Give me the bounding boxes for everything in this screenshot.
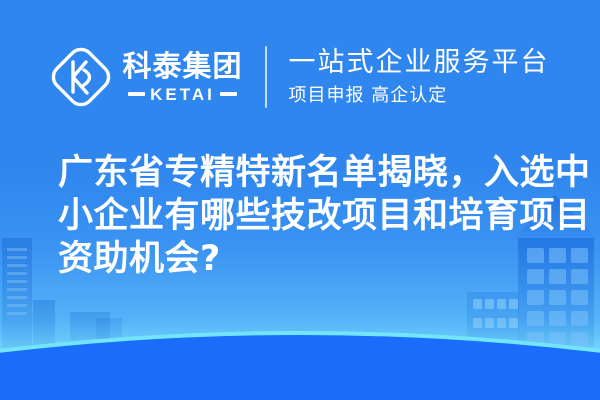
banner-header: 科泰集团 KETAI 一站式企业服务平台 项目申报 高企认定 [0, 36, 600, 118]
logo-dash-right-icon [220, 92, 237, 96]
tagline-block: 一站式企业服务平台 项目申报 高企认定 [289, 48, 550, 105]
page-title: 广东省专精特新名单揭晓，入选中 小企业有哪些技改项目和培育项目 资助机会? [58, 152, 558, 281]
ketai-monogram-logo-icon [50, 46, 112, 108]
logo-english-row: KETAI [128, 86, 237, 103]
logo-chinese-name: 科泰集团 [122, 52, 242, 81]
logo-dash-left-icon [128, 92, 145, 96]
tagline-sub: 项目申报 高企认定 [289, 86, 550, 106]
brand-logo[interactable]: 科泰集团 KETAI [50, 46, 242, 108]
headline-line-3: 资助机会? [58, 238, 558, 281]
headline-line-1: 广东省专精特新名单揭晓，入选中 [58, 152, 558, 195]
bottom-curved-arc [0, 333, 600, 400]
logo-english-name: KETAI [150, 86, 215, 103]
tagline-main: 一站式企业服务平台 [289, 48, 550, 78]
header-divider [265, 46, 267, 108]
logo-wordmark: 科泰集团 KETAI [122, 52, 242, 103]
promo-banner: 科泰集团 KETAI 一站式企业服务平台 项目申报 高企认定 广东省专精特新名单… [0, 0, 600, 400]
headline-line-2: 小企业有哪些技改项目和培育项目 [58, 195, 558, 238]
